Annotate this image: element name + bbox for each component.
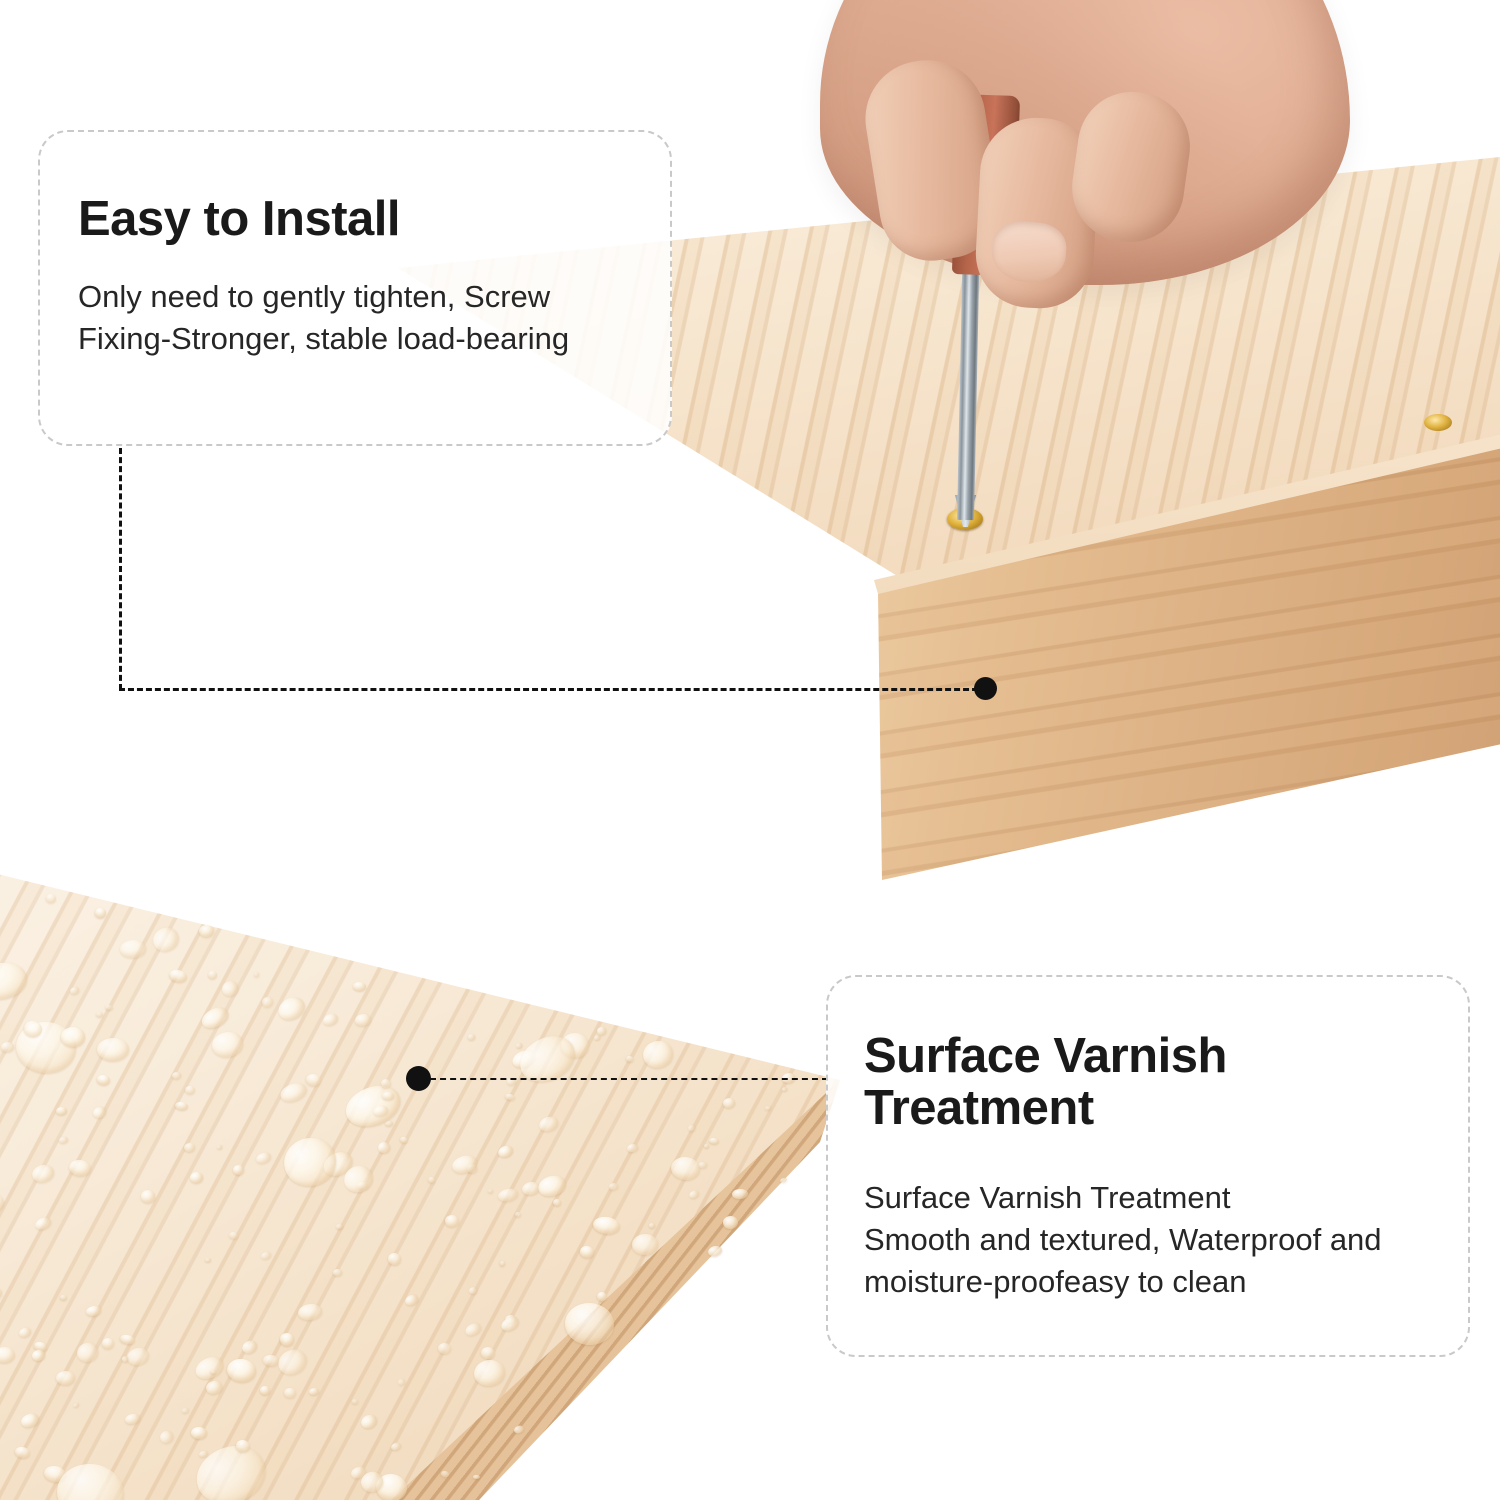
callout-card-surface-varnish: Surface Varnish Treatment Surface Varnis… [826,975,1470,1357]
water-droplet [353,982,366,991]
water-droplet [382,1092,394,1100]
water-droplet [184,1142,196,1152]
water-droplet [780,1177,788,1184]
water-droplet [283,1387,295,1398]
leader-line-varnish-horizontal [430,1078,828,1080]
water-droplet [445,1215,459,1228]
callout-title-install: Easy to Install [78,194,400,246]
callout-body-varnish: Surface Varnish Treatment Smooth and tex… [864,1177,1464,1303]
water-droplet [704,1143,710,1147]
callout-body-install: Only need to gently tighten, Screw Fixin… [78,276,648,360]
marker-dot-install [974,677,997,700]
water-droplet [488,1189,494,1193]
marker-dot-varnish [406,1066,431,1091]
water-droplet [205,1258,211,1262]
water-droplet [198,925,213,937]
water-droplet [388,1252,401,1264]
leader-line-install-vertical [119,448,122,690]
photo-surface-varnish [0,840,900,1500]
water-droplet [514,1211,521,1217]
infographic-canvas: Easy to Install Only need to gently tigh… [0,0,1500,1500]
water-droplet [233,1165,244,1175]
water-droplet [352,1398,358,1403]
water-droplet [104,1004,112,1010]
callout-card-easy-to-install: Easy to Install Only need to gently tigh… [38,130,672,446]
callout-title-varnish: Surface Varnish Treatment [864,1031,1334,1135]
gold-screw-head-secondary [1424,414,1452,431]
water-droplet [467,1033,475,1040]
leader-line-install-horizontal [119,688,987,691]
